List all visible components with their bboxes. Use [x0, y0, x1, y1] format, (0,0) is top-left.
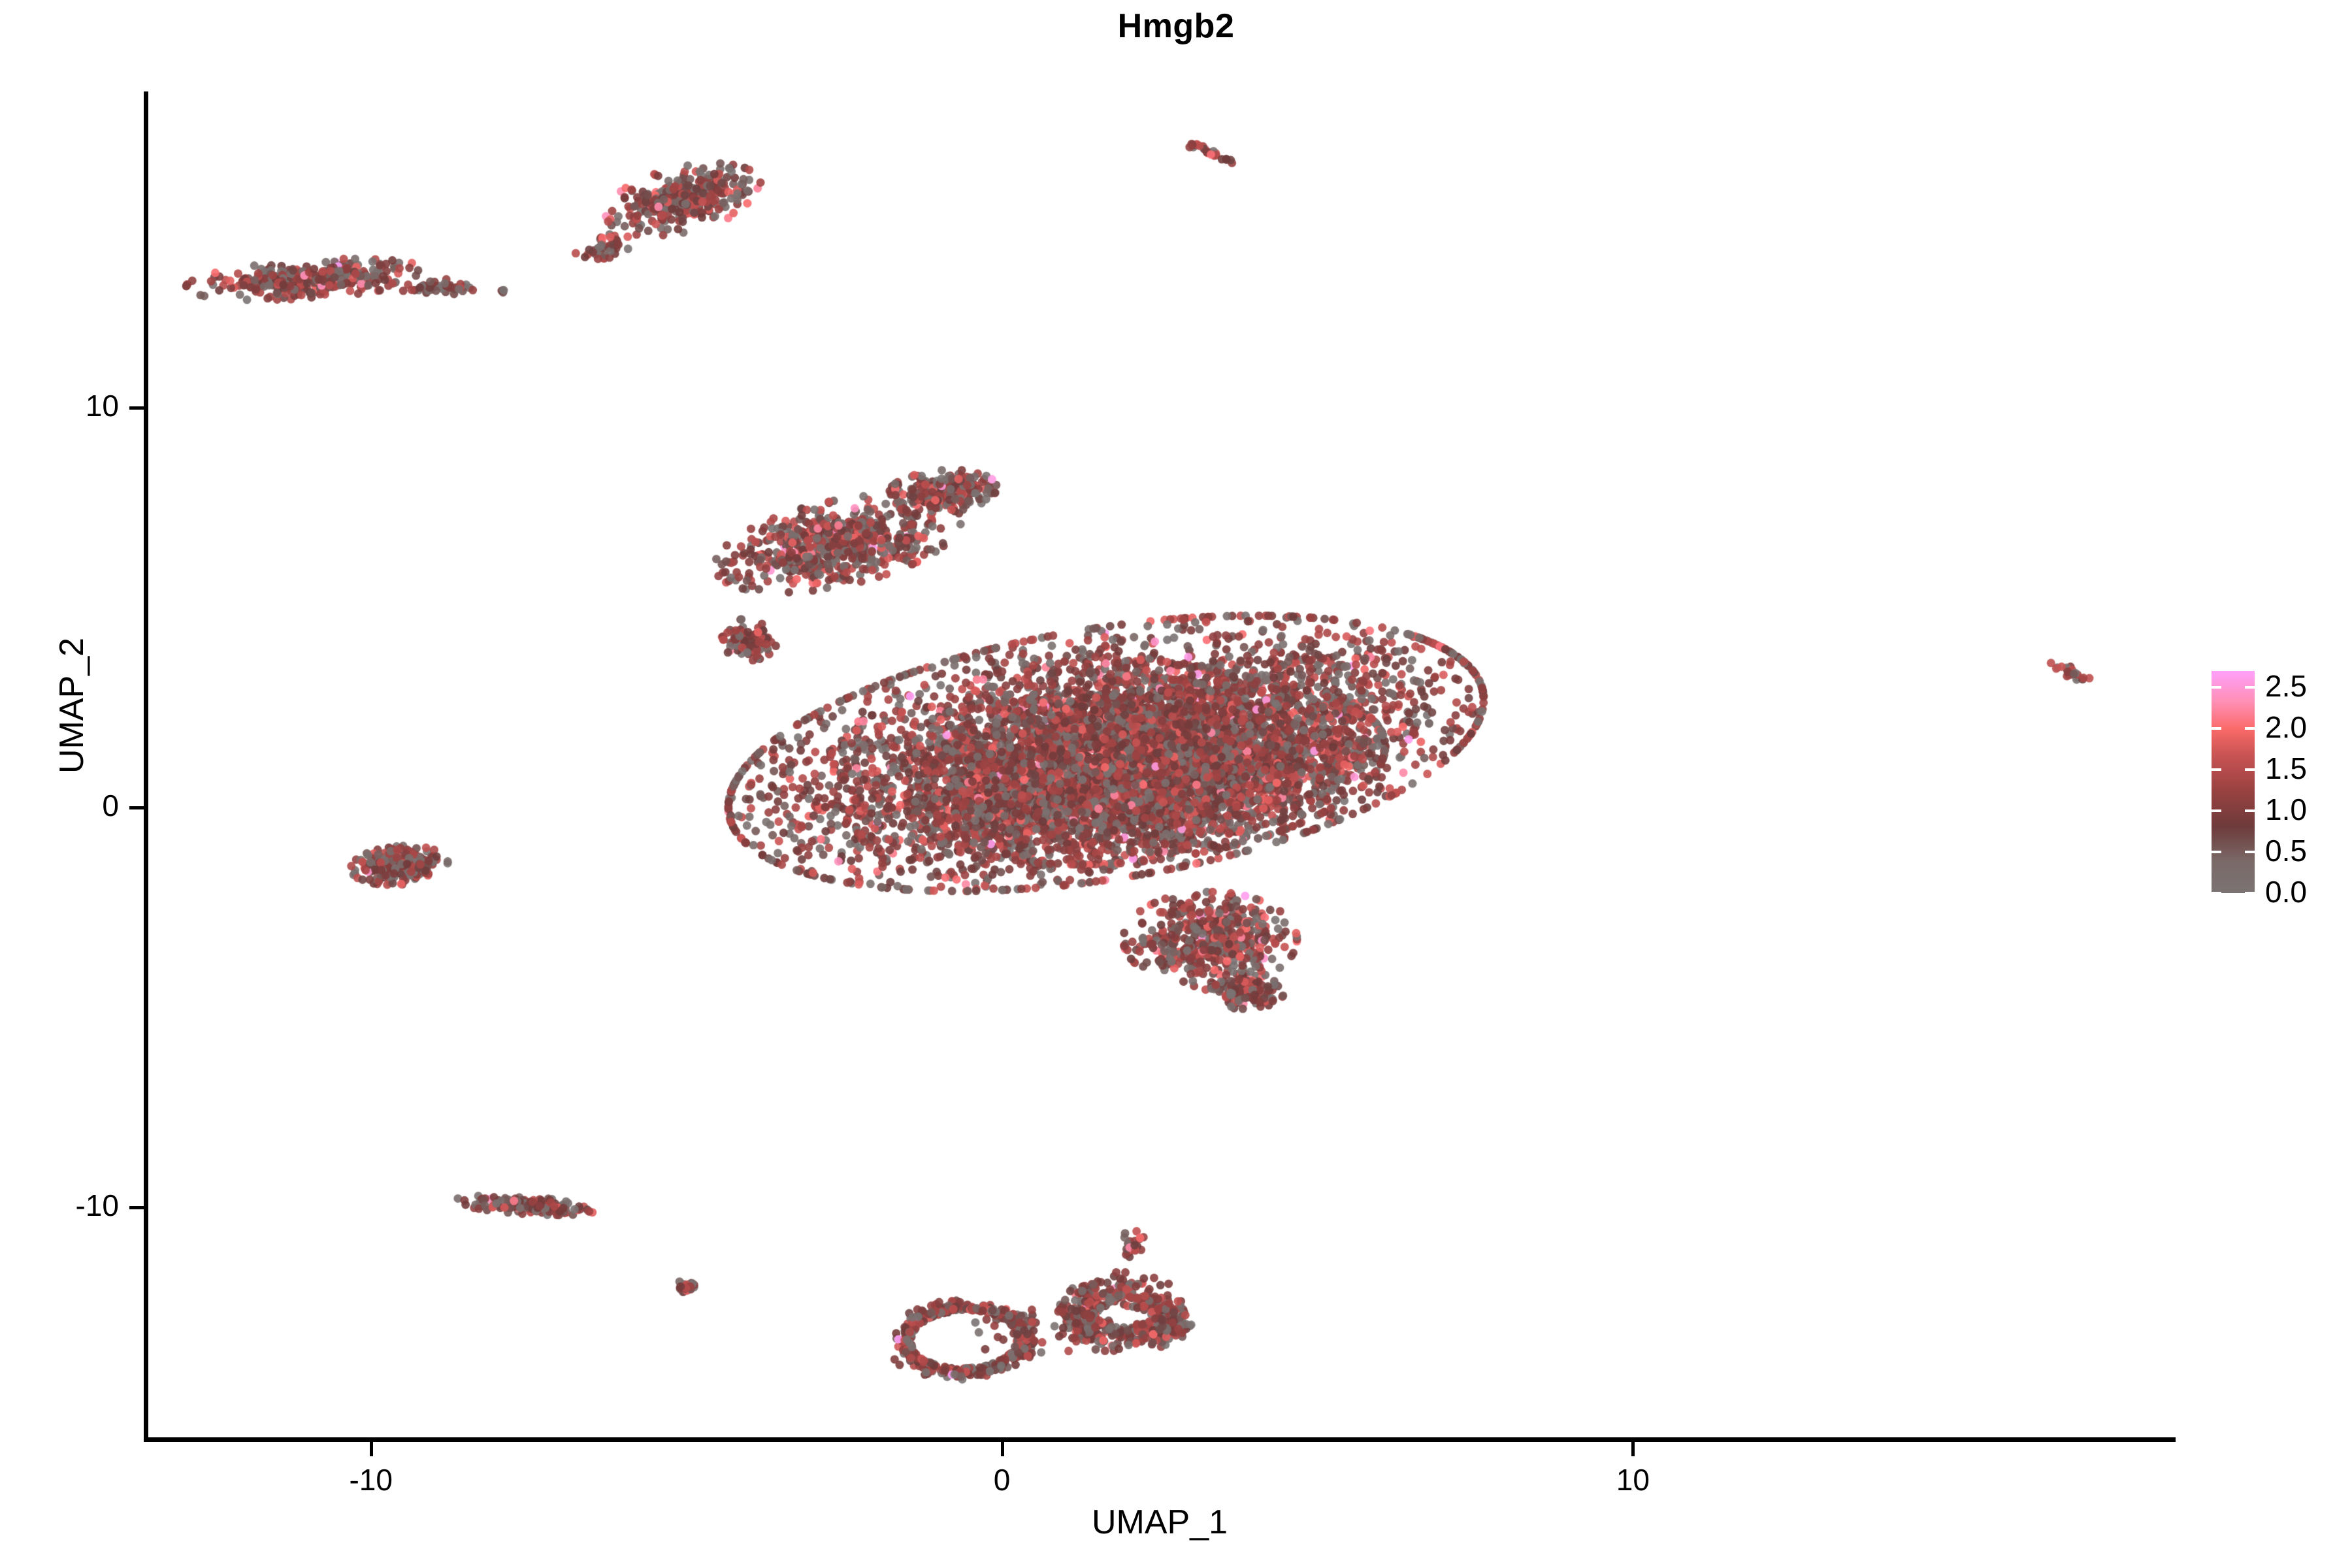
- y-tick-label: -10: [14, 1188, 119, 1223]
- y-tick-mark: [129, 406, 144, 410]
- x-tick-label: 0: [937, 1462, 1068, 1497]
- colorbar-tick-label: 0.0: [2265, 877, 2307, 907]
- colorbar-tick-mark: [2212, 727, 2221, 730]
- scatter-points-canvas: [144, 91, 2176, 1439]
- x-tick-mark: [1001, 1442, 1004, 1456]
- colorbar-tick-mark: [2212, 892, 2221, 894]
- x-axis-line: [144, 1437, 2176, 1442]
- colorbar-tick-label: 0.5: [2265, 836, 2307, 866]
- y-axis-title: UMAP_2: [52, 638, 91, 774]
- x-tick-mark: [370, 1442, 373, 1456]
- colorbar-tick-mark: [2245, 686, 2255, 689]
- x-tick-label: -10: [306, 1462, 436, 1497]
- colorbar-tick-label: 1.0: [2265, 794, 2307, 825]
- colorbar-tick-mark: [2245, 851, 2255, 853]
- colorbar-tick-mark: [2245, 768, 2255, 771]
- page-title: Hmgb2: [0, 0, 2352, 46]
- plot-panel: [144, 91, 2176, 1439]
- colorbar-tick-mark: [2212, 686, 2221, 689]
- colorbar-gradient: [2212, 671, 2255, 893]
- colorbar-tick-mark: [2245, 809, 2255, 812]
- colorbar-tick-label: 2.5: [2265, 671, 2307, 701]
- colorbar-tick-mark: [2212, 768, 2221, 771]
- umap-feature-plot: Hmgb2 100-10 -10010 UMAP_1 UMAP_2 2.52.0…: [0, 0, 2352, 1568]
- y-axis-title-wrapper: UMAP_2: [52, 314, 105, 1098]
- colorbar-tick-mark: [2212, 809, 2221, 812]
- y-axis-line: [144, 91, 148, 1441]
- x-tick-mark: [1631, 1442, 1635, 1456]
- colorbar-tick-label: 1.5: [2265, 753, 2307, 783]
- colorbar-tick-mark: [2245, 892, 2255, 894]
- x-tick-label: 10: [1567, 1462, 1698, 1497]
- colorbar-tick-mark: [2212, 851, 2221, 853]
- colorbar-tick-label: 2.0: [2265, 712, 2307, 742]
- x-axis-title: UMAP_1: [144, 1503, 2176, 1542]
- y-tick-mark: [129, 806, 144, 809]
- colorbar-tick-mark: [2245, 727, 2255, 730]
- y-tick-mark: [129, 1206, 144, 1209]
